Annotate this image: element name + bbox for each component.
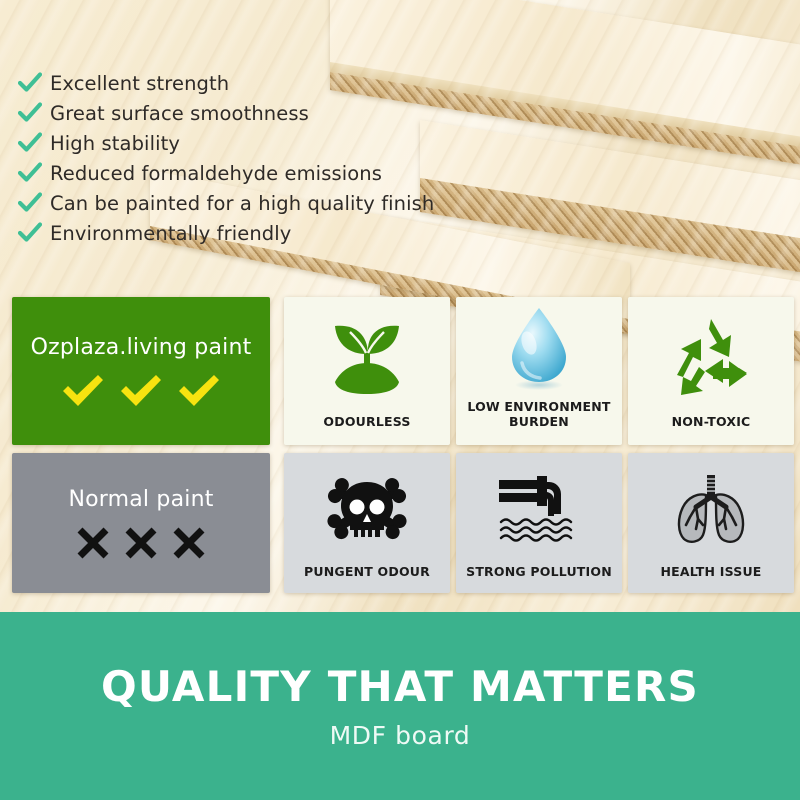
skull-crossbones-icon (284, 453, 450, 564)
banner-subtitle: MDF board (330, 721, 471, 750)
normal-mark-row (76, 526, 206, 560)
sprout-plant-icon (284, 297, 450, 414)
feature-label: Reduced formaldehyde emissions (50, 162, 382, 185)
check-icon (18, 72, 42, 94)
benefit-card-label: LOW ENVIRONMENT BURDEN (456, 399, 622, 445)
feature-label: Excellent strength (50, 72, 229, 95)
benefit-card-label: ODOURLESS (317, 414, 416, 445)
feature-item: Great surface smoothness (18, 98, 448, 128)
feature-item: Can be painted for a high quality finish (18, 188, 448, 218)
feature-label: Great surface smoothness (50, 102, 309, 125)
feature-label: High stability (50, 132, 180, 155)
benefit-card-low-environment-burden: LOW ENVIRONMENT BURDEN (456, 297, 622, 445)
drawback-card-health-issue: HEALTH ISSUE (628, 453, 794, 593)
benefit-card-odourless: ODOURLESS (284, 297, 450, 445)
feature-list: Excellent strength Great surface smoothn… (18, 68, 448, 248)
benefit-card-label: NON-TOXIC (666, 414, 757, 445)
black-cross-icon (172, 526, 206, 560)
yellow-check-icon (119, 374, 163, 408)
drawback-card-label: HEALTH ISSUE (654, 564, 767, 593)
pipe-pollution-icon (456, 453, 622, 564)
normal-paint-panel: Normal paint (12, 453, 270, 593)
drawback-card-label: STRONG POLLUTION (460, 564, 618, 593)
bottom-banner: QUALITY THAT MATTERS MDF board (0, 612, 800, 800)
water-drop-icon (456, 297, 622, 399)
black-cross-icon (76, 526, 110, 560)
check-icon (18, 162, 42, 184)
recycle-icon (628, 297, 794, 414)
normal-paint-title: Normal paint (68, 487, 213, 512)
black-cross-icon (124, 526, 158, 560)
yellow-check-icon (61, 374, 105, 408)
feature-item: High stability (18, 128, 448, 158)
feature-label: Can be painted for a high quality finish (50, 192, 434, 215)
feature-item: Excellent strength (18, 68, 448, 98)
check-icon (18, 102, 42, 124)
feature-label: Environmentally friendly (50, 222, 291, 245)
product-infographic: Excellent strength Great surface smoothn… (0, 0, 800, 800)
drawback-card-pungent-odour: PUNGENT ODOUR (284, 453, 450, 593)
brand-paint-panel: Ozplaza.living paint (12, 297, 270, 445)
lungs-icon (628, 453, 794, 564)
check-icon (18, 192, 42, 214)
feature-item: Reduced formaldehyde emissions (18, 158, 448, 188)
benefit-card-non-toxic: NON-TOXIC (628, 297, 794, 445)
yellow-check-icon (177, 374, 221, 408)
brand-mark-row (61, 374, 221, 408)
feature-item: Environmentally friendly (18, 218, 448, 248)
check-icon (18, 222, 42, 244)
drawback-card-strong-pollution: STRONG POLLUTION (456, 453, 622, 593)
banner-title: QUALITY THAT MATTERS (101, 662, 699, 711)
check-icon (18, 132, 42, 154)
drawback-card-label: PUNGENT ODOUR (298, 564, 436, 593)
brand-paint-title: Ozplaza.living paint (31, 335, 252, 360)
